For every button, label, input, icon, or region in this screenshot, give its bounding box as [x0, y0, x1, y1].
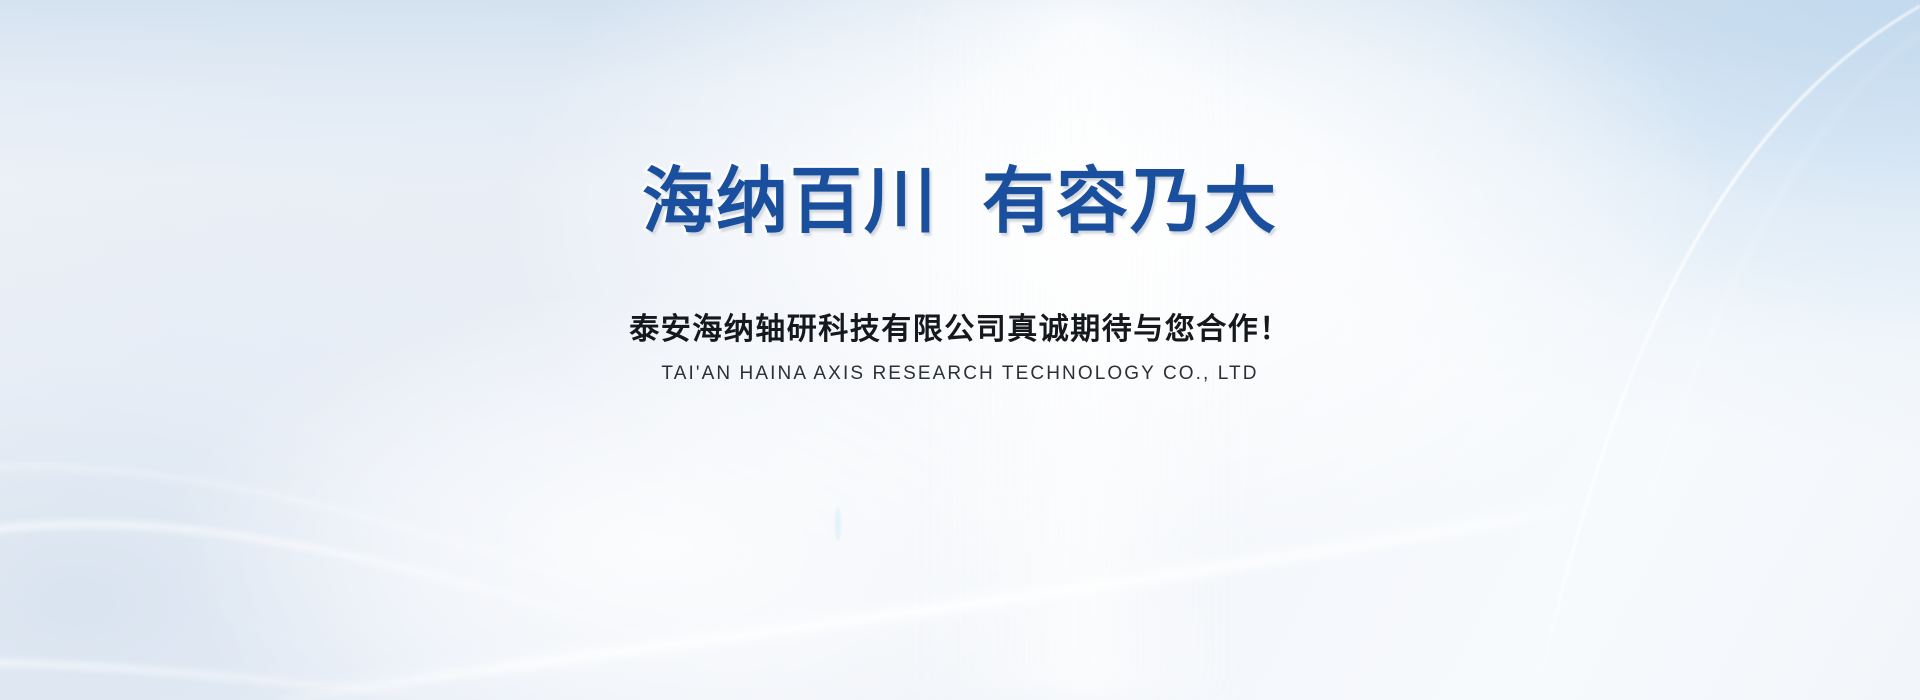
- company-name-english: TAI'AN HAINA AXIS RESEARCH TECHNOLOGY CO…: [0, 362, 1920, 387]
- page-title: 海纳百川 有容乃大: [0, 164, 1920, 242]
- company-slogan: 泰安海纳轴研科技有限公司真诚期待与您合作！: [0, 310, 1920, 349]
- banner-content: 海纳百川 有容乃大 泰安海纳轴研科技有限公司真诚期待与您合作！ TAI'AN H…: [0, 0, 1920, 700]
- hero-banner: 海纳百川 有容乃大 泰安海纳轴研科技有限公司真诚期待与您合作！ TAI'AN H…: [0, 0, 1920, 700]
